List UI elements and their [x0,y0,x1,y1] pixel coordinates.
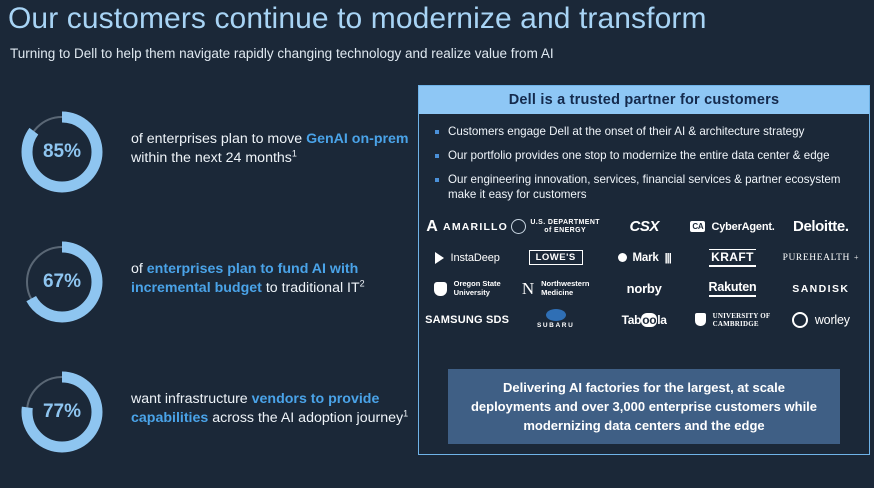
logo-norby: norby [627,281,662,296]
donut-chart-77: 77% [18,368,106,456]
bullet-square-icon [435,130,439,134]
logo-label: Deloitte. [793,218,849,235]
logo-label: U.S. DEPARTMENT of ENERGY [530,219,600,235]
taboola-oo-icon: oo [641,313,657,327]
donut-value-label: 85% [18,108,106,196]
stat-text-highlight: GenAI on-prem [306,131,408,147]
bullet-text: Our portfolio provides one stop to moder… [448,148,830,163]
logo-kraft: KRAFT [709,249,756,267]
worley-swirl-icon [792,312,808,328]
logo-label: Oregon State University [454,280,501,297]
logo-label: CSX [629,218,658,235]
stat-item: 85% of enterprises plan to move GenAI on… [0,108,415,238]
logo-label: LOWE'S [529,250,583,265]
bullet-square-icon [435,154,439,158]
logo-label: KRAFT [709,249,756,267]
cambridge-shield-icon [695,313,706,326]
logo-rakuten: Rakuten [709,280,757,297]
mark-globe-icon [618,253,627,262]
energy-seal-icon [511,219,526,234]
logo-label: worley [815,313,850,327]
logo-label: AMARILLO [443,221,508,233]
logo-mark-systems: Mark||| [618,252,671,264]
bullet-text: Our engineering innovation, services, fi… [448,172,859,202]
list-item: Our portfolio provides one stop to moder… [431,148,859,163]
logo-university-of-cambridge: UNIVERSITY OF CAMBRIDGE [695,312,771,328]
logo-lowes: LOWE'S [529,250,583,265]
footnote-marker: 1 [403,408,408,418]
logo-label: SAMSUNG SDS [425,314,509,326]
logo-label: Taboola [622,313,667,327]
logo-instadeep: InstaDeep [435,252,500,264]
logo-subaru: SUBARU [537,309,574,330]
logo-samsung-sds: SAMSUNG SDS [425,314,509,326]
logo-sandisk: SANDISK [792,283,849,295]
logo-label: SUBARU [537,309,574,330]
slide-root: Our customers continue to modernize and … [0,0,874,460]
logo-label: Mark [633,252,659,264]
logo-label: Rakuten [709,280,757,297]
stat-item: 77% want infrastructure vendors to provi… [0,368,415,488]
oregon-beaver-icon [434,282,447,296]
footnote-marker: 2 [360,278,365,288]
logo-amarillo: AAMARILLO [426,218,508,236]
footnote-marker: 1 [292,148,297,158]
page-subtitle: Turning to Dell to help them navigate ra… [10,46,554,61]
logo-northwestern-medicine: N Northwestern Medicine [522,280,590,297]
logo-us-department-of-energy: U.S. DEPARTMENT of ENERGY [511,219,600,235]
cyberagent-mark-icon: CA [690,221,705,232]
subaru-stars-icon [546,309,566,321]
logo-taboola: Taboola [622,313,667,327]
callout-box: Delivering AI factories for the largest,… [448,369,840,444]
list-item: Our engineering innovation, services, fi… [431,172,859,202]
logo-oregon-state-university: Oregon State University [434,280,501,297]
bullet-square-icon [435,178,439,182]
logo-worley: worley [792,312,850,328]
stat-text-post: to traditional IT [262,280,360,296]
stats-column: 85% of enterprises plan to move GenAI on… [0,108,415,488]
logo-csx: CSX [629,218,658,235]
stat-text-post: within the next 24 months [131,150,292,166]
logo-label: UNIVERSITY OF CAMBRIDGE [713,312,771,328]
stat-text-pre: of [131,261,147,277]
logo-label: InstaDeep [451,252,500,264]
donut-chart-67: 67% [18,238,106,326]
customer-logo-grid: AAMARILLO U.S. DEPARTMENT of ENERGY CSX … [423,211,865,335]
stat-description: want infrastructure vendors to provide c… [131,390,421,428]
stat-description: of enterprises plan to fund AI with incr… [131,260,421,298]
trusted-partner-panel: Dell is a trusted partner for customers … [418,85,870,455]
panel-bullet-list: Customers engage Dell at the onset of th… [419,114,869,202]
logo-label: CyberAgent. [711,221,774,233]
logo-label: PUREHEALTH [783,253,850,263]
donut-value-label: 77% [18,368,106,456]
stat-text-pre: want infrastructure [131,391,252,407]
logo-purehealth: PUREHEALTH+ [783,253,860,263]
northwestern-n-icon: N [522,280,534,297]
list-item: Customers engage Dell at the onset of th… [431,124,859,139]
donut-chart-85: 85% [18,108,106,196]
stat-description: of enterprises plan to move GenAI on-pre… [131,130,421,168]
logo-label: Northwestern Medicine [541,280,589,297]
logo-label: norby [627,281,662,296]
bullet-text: Customers engage Dell at the onset of th… [448,124,804,139]
page-title: Our customers continue to modernize and … [8,2,707,36]
logo-label: SANDISK [792,283,849,295]
stat-item: 67% of enterprises plan to fund AI with … [0,238,415,368]
mark-bars-icon: ||| [665,252,671,264]
stat-text-post: across the AI adoption journey [208,410,403,426]
panel-header: Dell is a trusted partner for customers [419,86,869,114]
logo-deloitte: Deloitte. [793,218,849,235]
stat-text-pre: of enterprises plan to move [131,131,306,147]
logo-cyberagent: CACyberAgent. [690,221,774,233]
donut-value-label: 67% [18,238,106,326]
instadeep-triangle-icon [435,252,444,264]
amarillo-a-icon: A [426,218,439,236]
